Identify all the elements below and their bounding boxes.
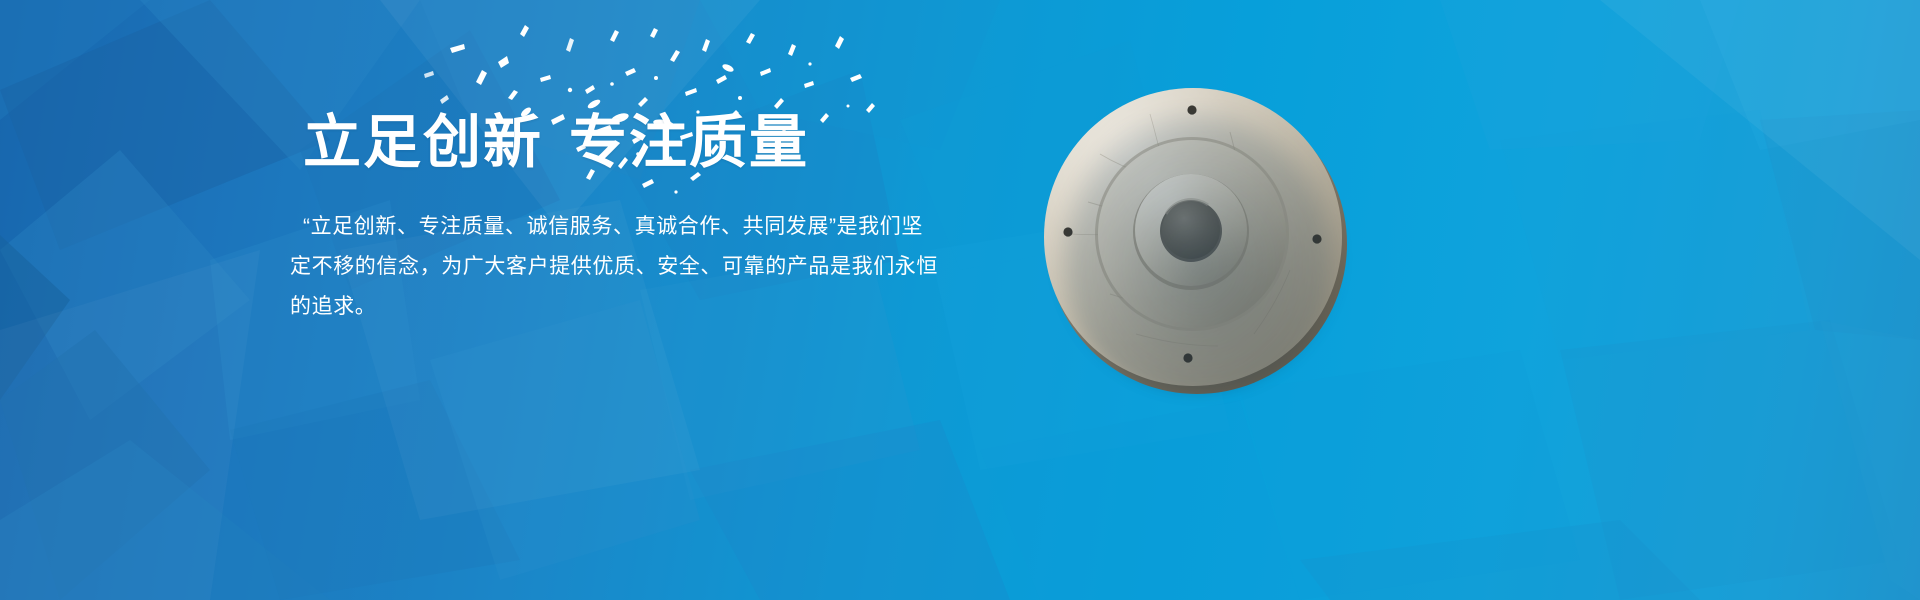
banner-headline: 立足创新专注质量: [303, 112, 963, 175]
paragraph-line-2: 定不移的信念，为广大客户提供优质、安全、可靠的产品是我们永恒: [290, 247, 963, 287]
paragraph-line-3: 的追求。: [290, 287, 963, 327]
banner-paragraph: “立足创新、专注质量、诚信服务、真诚合作、共同发展”是我们坚 定不移的信念，为广…: [303, 175, 963, 327]
headline-part-2: 专注质量: [569, 110, 809, 175]
hero-banner: 立足创新专注质量 “立足创新、专注质量、诚信服务、真诚合作、共同发展”是我们坚 …: [0, 0, 1920, 600]
banner-copy-block: 立足创新专注质量 “立足创新、专注质量、诚信服务、真诚合作、共同发展”是我们坚 …: [303, 112, 963, 327]
headline-part-1: 立足创新: [303, 110, 543, 175]
paragraph-line-1: “立足创新、专注质量、诚信服务、真诚合作、共同发展”是我们坚: [303, 207, 963, 247]
product-shadow: [1054, 106, 1344, 394]
product-image: [1040, 84, 1350, 394]
